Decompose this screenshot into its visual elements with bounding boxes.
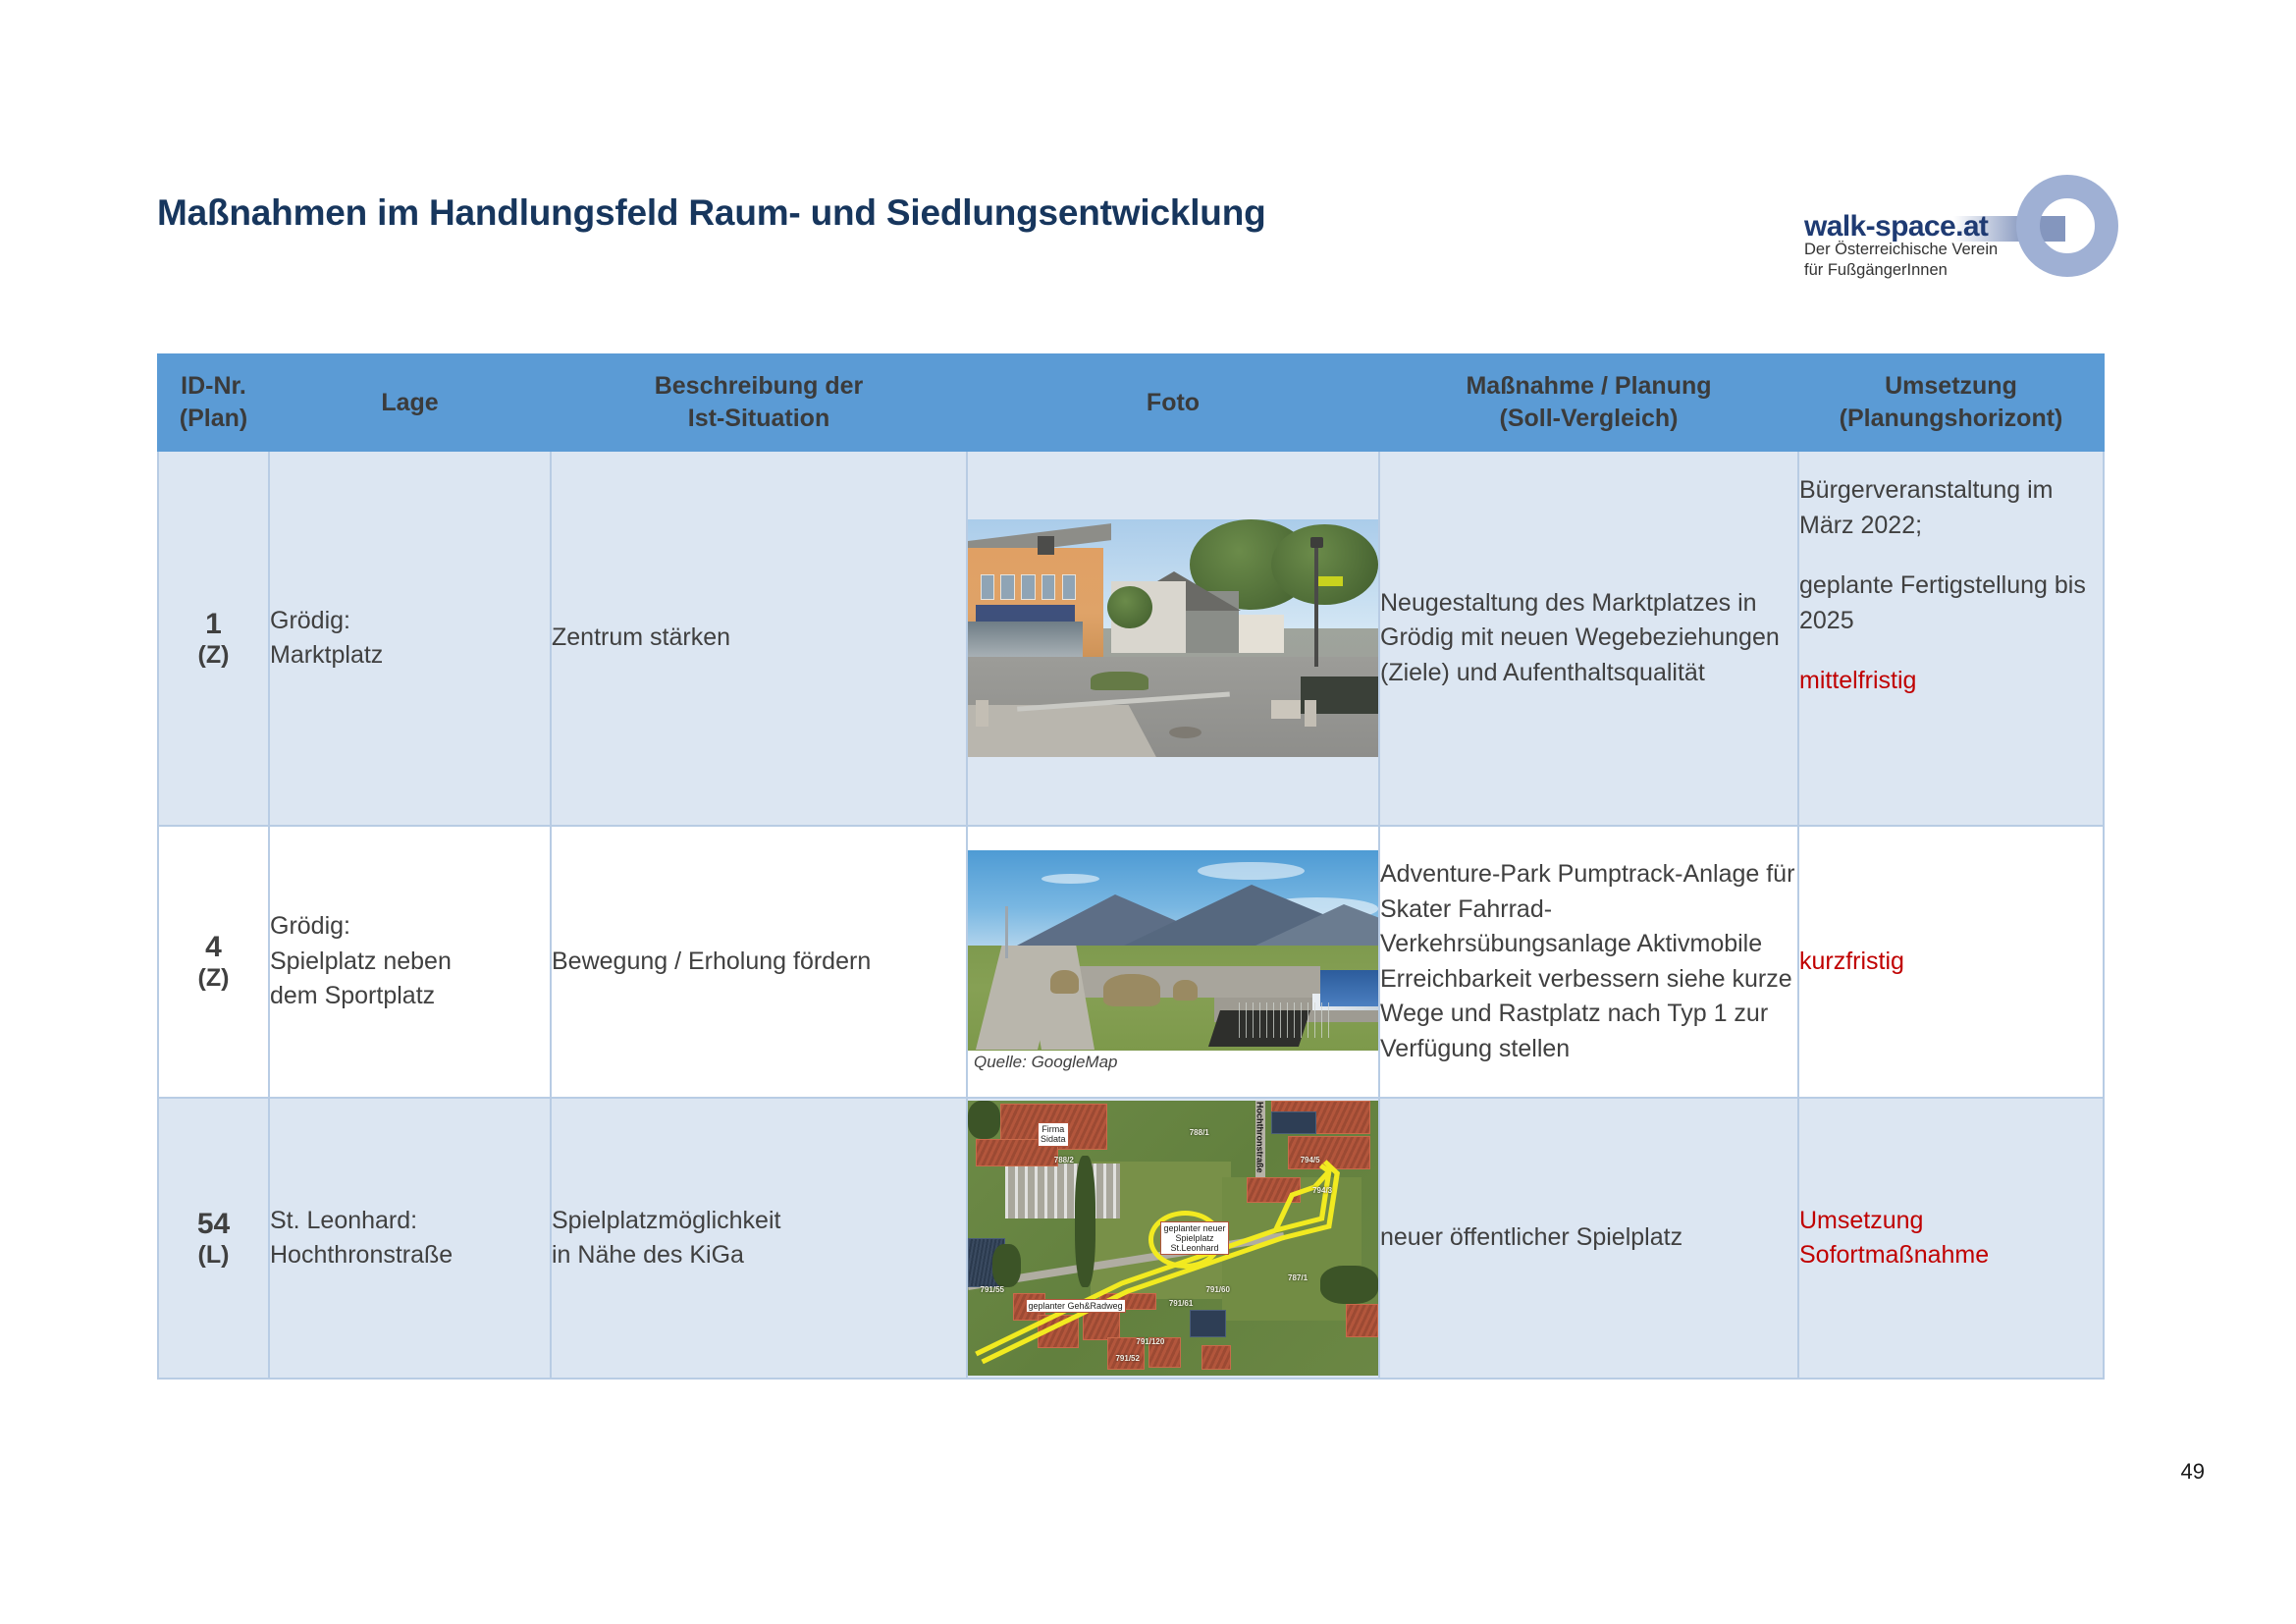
photo-lamp-head <box>1310 537 1323 548</box>
map-parcel-number: 794/5 <box>1301 1156 1320 1164</box>
measures-table: ID-Nr. (Plan) Lage Beschreibung der Ist-… <box>157 353 2105 1380</box>
column-header-umsetzung-line1: Umsetzung <box>1799 370 2103 403</box>
row-lage-line1: St. Leonhard: <box>270 1204 550 1239</box>
map-parcel-number: 791/55 <box>981 1285 1004 1294</box>
map-parcel-number: 794/3 <box>1312 1186 1332 1195</box>
photo-window <box>1041 574 1055 601</box>
photo-shrub <box>1173 980 1198 1000</box>
row-massnahme-cell: Adventure-Park Pumptrack-Anlage für Skat… <box>1379 826 1798 1098</box>
map-parcel-number: 791/52 <box>1115 1354 1139 1363</box>
column-header-id-line2: (Plan) <box>159 403 268 435</box>
column-header-massnahme-line1: Maßnahme / Planung <box>1380 370 1797 403</box>
column-header-beschreibung: Beschreibung der Ist-Situation <box>551 354 967 451</box>
row-umsetzung-line2: geplante Fertigstellung bis 2025 <box>1799 568 2103 638</box>
photo-direction-sign <box>1318 576 1343 586</box>
column-header-foto: Foto <box>967 354 1379 451</box>
map-label-hochthronstrasse: Hochthronstraße <box>1254 1101 1267 1174</box>
page-number: 49 <box>2181 1459 2205 1485</box>
table-header-row: ID-Nr. (Plan) Lage Beschreibung der Ist-… <box>158 354 2104 451</box>
column-header-beschreibung-line1: Beschreibung der <box>552 370 966 403</box>
photo-shrub <box>1050 970 1079 994</box>
row-id-cell: 54 (L) <box>158 1098 269 1379</box>
photo-cloud <box>1041 874 1099 884</box>
column-header-massnahme-line2: (Soll-Vergleich) <box>1380 403 1797 435</box>
row-id-number: 1 <box>159 607 268 641</box>
photo-aerial-cadastral-image: Firma Sidata geplanter neuer Spielplatz … <box>968 1101 1378 1376</box>
row-beschreibung-cell: Spielplatzmöglichkeit in Nähe des KiGa <box>551 1098 967 1379</box>
row-lage-line1: Grödig: <box>270 604 550 639</box>
row-lage-cell: St. Leonhard: Hochthronstraße <box>269 1098 551 1379</box>
map-parcel-number: 791/61 <box>1169 1299 1193 1308</box>
column-header-id: ID-Nr. (Plan) <box>158 354 269 451</box>
photo-window <box>1021 574 1035 601</box>
column-header-umsetzung: Umsetzung (Planungshorizont) <box>1798 354 2104 451</box>
row-lage-line1: Grödig: <box>270 909 550 945</box>
map-label-firma: Firma Sidata <box>1038 1122 1069 1146</box>
table-row: 54 (L) St. Leonhard: Hochthronstraße Spi… <box>158 1098 2104 1379</box>
row-beschreibung-line1: Spielplatzmöglichkeit <box>552 1204 966 1239</box>
row-beschreibung-line2: in Nähe des KiGa <box>552 1238 966 1273</box>
photo-chimney <box>1038 536 1054 555</box>
photo-blue-structure <box>1320 970 1378 1006</box>
photo-window <box>1000 574 1014 601</box>
row-beschreibung-cell: Zentrum stärken <box>551 451 967 826</box>
row-id-cell: 1 (Z) <box>158 451 269 826</box>
photo-cloud <box>1198 862 1305 880</box>
column-header-foto-line1: Foto <box>968 387 1378 419</box>
photo-aerial-map: Firma Sidata geplanter neuer Spielplatz … <box>968 1101 1378 1376</box>
row-id-number: 54 <box>159 1207 268 1241</box>
photo-lamp-post <box>1314 543 1318 667</box>
photo-light-pole <box>1005 906 1008 958</box>
spacer <box>1799 543 2103 568</box>
map-parcel-number: 788/1 <box>1190 1128 1209 1137</box>
row-umsetzung-line1: Bürgerveranstaltung im März 2022; <box>1799 473 2103 543</box>
column-header-lage-line1: Lage <box>270 387 550 419</box>
photo-window <box>1062 574 1076 601</box>
logo-subtitle-line1: Der Österreichische Verein <box>1804 241 1998 258</box>
logo-subtitle-line2: für FußgängerInnen <box>1804 261 1948 279</box>
row-foto-cell: Firma Sidata geplanter neuer Spielplatz … <box>967 1098 1379 1379</box>
ring-logo-icon <box>2016 175 2118 277</box>
photo-window <box>981 574 994 601</box>
row-id-cell: 4 (Z) <box>158 826 269 1098</box>
spacer <box>1799 638 2103 664</box>
table-row: 1 (Z) Grödig: Marktplatz Zentrum stärken <box>158 451 2104 826</box>
photo-curbstone <box>1271 700 1300 719</box>
row-foto-cell: Quelle: GoogleMap <box>967 826 1379 1098</box>
photo-shopfront <box>968 622 1083 662</box>
row-id-suffix: (Z) <box>159 641 268 671</box>
row-lage-line2: Hochthronstraße <box>270 1238 550 1273</box>
row-massnahme-cell: neuer öffentlicher Spielplatz <box>1379 1098 1798 1379</box>
row-beschreibung-cell: Bewegung / Erholung fördern <box>551 826 967 1098</box>
map-parcel-number: 791/120 <box>1136 1337 1164 1346</box>
map-label-gehradweg: geplanter Geh&Radweg <box>1026 1299 1126 1313</box>
photo-bush <box>1091 672 1148 690</box>
column-header-id-line1: ID-Nr. <box>159 370 268 403</box>
photo-shop-sign <box>976 605 1074 622</box>
row-id-number: 4 <box>159 930 268 964</box>
logo-wordmark: walk-space.at <box>1804 210 1988 244</box>
row-foto-cell <box>967 451 1379 826</box>
row-lage-line2: Spielplatz neben <box>270 945 550 980</box>
row-umsetzung-cell: Umsetzung Sofortmaßnahme <box>1798 1098 2104 1379</box>
column-header-massnahme: Maßnahme / Planung (Soll-Vergleich) <box>1379 354 1798 451</box>
row-id-suffix: (Z) <box>159 964 268 994</box>
page-title: Maßnahmen im Handlungsfeld Raum- und Sie… <box>157 192 1266 234</box>
row-umsetzung-highlight-line1: Umsetzung <box>1799 1204 2103 1239</box>
row-umsetzung-cell: Bürgerveranstaltung im März 2022; geplan… <box>1798 451 2104 826</box>
photo-source-caption: Quelle: GoogleMap <box>968 1051 1378 1074</box>
map-label-spielplatz: geplanter neuer Spielplatz St.Leonhard <box>1160 1221 1228 1255</box>
row-umsetzung-cell: kurzfristig <box>1798 826 2104 1098</box>
row-lage-cell: Grödig: Spielplatz neben dem Sportplatz <box>269 826 551 1098</box>
photo-shrub <box>1103 974 1161 1006</box>
row-massnahme-cell: Neugestaltung des Marktplatzes in Grödig… <box>1379 451 1798 826</box>
row-umsetzung-highlight: mittelfristig <box>1799 664 2103 699</box>
photo-tree <box>1271 524 1378 605</box>
photo-spielplatz-sportplatz: Quelle: GoogleMap <box>968 850 1378 1074</box>
photo-bollard <box>1305 700 1317 727</box>
logo-subtitle: Der Österreichische Verein für Fußgänger… <box>1804 240 1998 281</box>
map-parcel-number: 787/1 <box>1288 1273 1308 1282</box>
photo-mountain <box>1255 904 1378 946</box>
column-header-lage: Lage <box>269 354 551 451</box>
column-header-umsetzung-line2: (Planungshorizont) <box>1799 403 2103 435</box>
row-id-suffix: (L) <box>159 1241 268 1271</box>
row-lage-cell: Grödig: Marktplatz <box>269 451 551 826</box>
photo-street-scene-image <box>968 519 1378 757</box>
photo-bollard <box>976 700 988 727</box>
map-parcel-number: 788/2 <box>1054 1156 1074 1164</box>
row-lage-line2: Marktplatz <box>270 638 550 674</box>
row-lage-line3: dem Sportplatz <box>270 979 550 1014</box>
map-parcel-number: 791/60 <box>1205 1285 1229 1294</box>
table-row: 4 (Z) Grödig: Spielplatz neben dem Sport… <box>158 826 2104 1098</box>
photo-sidewalk <box>968 705 1156 757</box>
photo-manhole <box>1169 727 1201 738</box>
column-header-beschreibung-line2: Ist-Situation <box>552 403 966 435</box>
photo-meadow-path-image <box>968 850 1378 1051</box>
photo-tree <box>1107 586 1152 629</box>
photo-fence <box>1239 1002 1329 1039</box>
row-umsetzung-highlight-line2: Sofortmaßnahme <box>1799 1238 2103 1273</box>
photo-marktplatz <box>968 519 1378 757</box>
walk-space-logo: walk-space.at Der Österreichische Verein… <box>1804 175 2118 278</box>
